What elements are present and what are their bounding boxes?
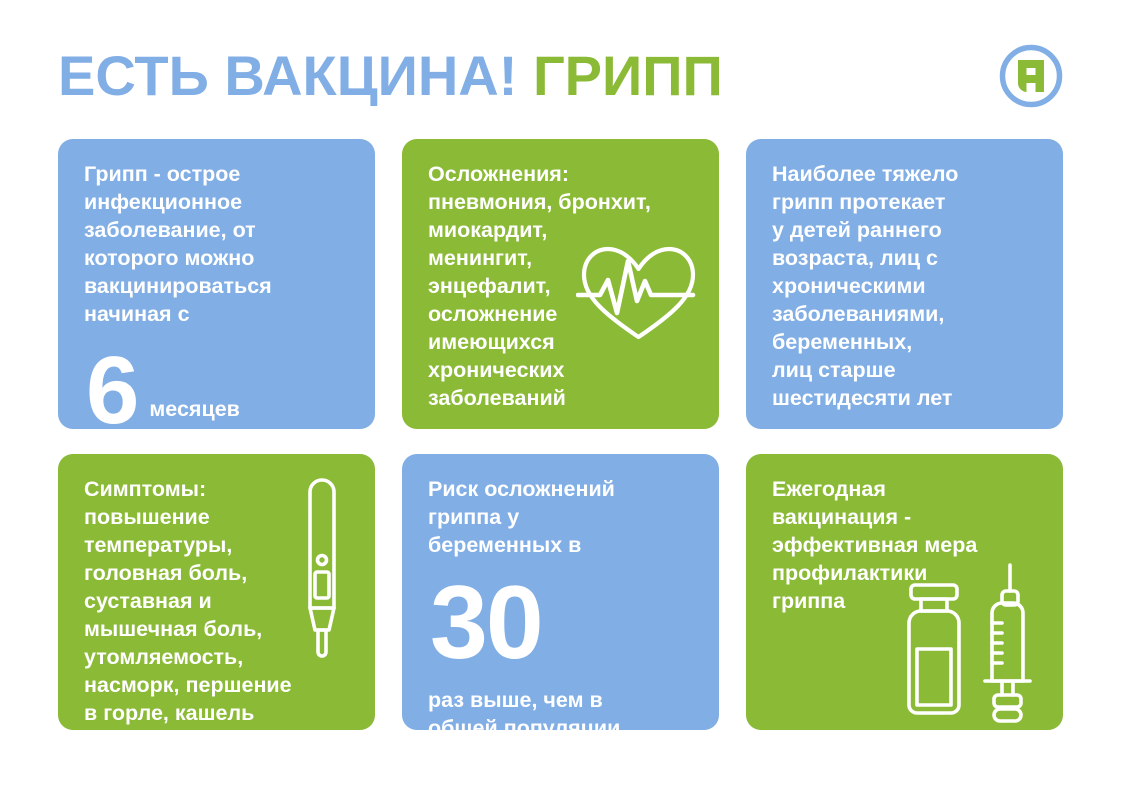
- card-definition-stat: 6 месяцев: [86, 345, 355, 429]
- card-complications-text: Осложнения: пневмония, бронхит, миокарди…: [428, 161, 699, 412]
- card-definition: Грипп - острое инфекционное заболевание,…: [58, 139, 375, 429]
- title-space: [517, 44, 533, 107]
- card-risk-groups: Наиболее тяжело грипп протекает у детей …: [746, 139, 1063, 429]
- card-grid: Грипп - острое инфекционное заболевание,…: [58, 139, 1064, 730]
- card-risk-groups-text: Наиболее тяжело грипп протекает у детей …: [772, 161, 1043, 412]
- card-pregnancy-risk-text: Риск осложнений гриппа у беременных в: [428, 476, 699, 560]
- card-complications: Осложнения: пневмония, бронхит, миокарди…: [402, 139, 719, 429]
- page-title: ЕСТЬ ВАКЦИНА! ГРИПП: [58, 48, 723, 104]
- clinic-monogram-logo-icon: [998, 43, 1064, 109]
- card-symptoms-text: Симптомы: повышение температуры, головна…: [84, 476, 355, 727]
- card-prevention: Ежегодная вакцинация - эффективная мера …: [746, 454, 1063, 730]
- card-definition-unit: месяцев: [149, 396, 239, 429]
- card-prevention-text: Ежегодная вакцинация - эффективная мера …: [772, 476, 1043, 616]
- title-green-part: ГРИПП: [533, 44, 723, 107]
- card-pregnancy-risk: Риск осложнений гриппа у беременных в 30…: [402, 454, 719, 730]
- card-definition-text: Грипп - острое инфекционное заболевание,…: [84, 161, 355, 329]
- card-symptoms: Симптомы: повышение температуры, головна…: [58, 454, 375, 730]
- card-pregnancy-risk-footer: раз выше, чем в общей популяции: [428, 687, 699, 730]
- card-pregnancy-risk-number: 30: [430, 574, 699, 673]
- title-blue-part: ЕСТЬ ВАКЦИНА!: [58, 44, 517, 107]
- poster-header: ЕСТЬ ВАКЦИНА! ГРИПП: [58, 36, 1064, 116]
- infographic-poster: ЕСТЬ ВАКЦИНА! ГРИПП Грипп - острое инфек…: [0, 0, 1122, 793]
- card-definition-number: 6: [86, 345, 137, 429]
